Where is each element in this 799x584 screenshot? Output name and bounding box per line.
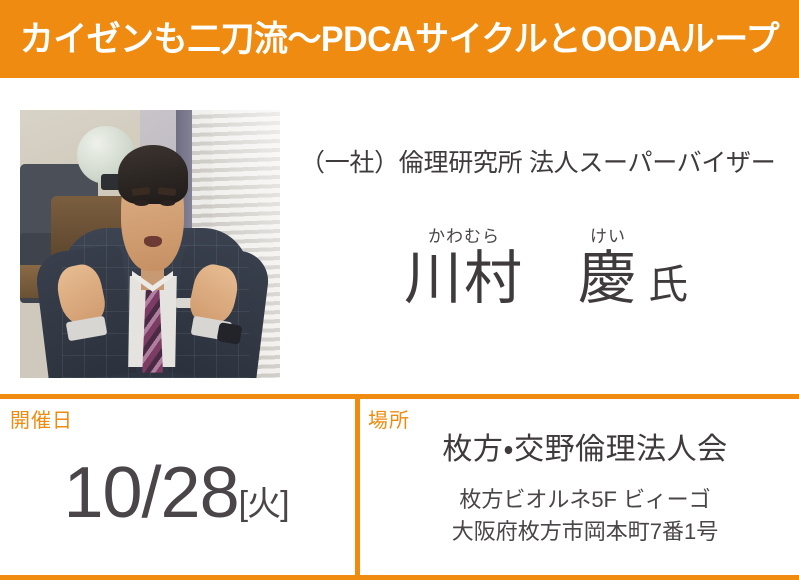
- venue-address-line-2: 大阪府枚方市岡本町7番1号: [380, 516, 790, 548]
- venue-name: 枚方・交野倫理法人会: [380, 424, 790, 468]
- divider-bottom: [0, 575, 799, 580]
- date-label: 開催日: [10, 404, 73, 433]
- speaker-surname-unit: かわむら 川村: [404, 228, 524, 310]
- title-banner: カイゼンも二刀流～PDCAサイクルとOODAループ: [0, 0, 799, 78]
- photo-eyebrow-left: [131, 187, 150, 196]
- speaker-givenname-unit: けい 慶: [578, 228, 638, 310]
- speaker-surname: 川村: [404, 249, 524, 310]
- date-number: 10/28: [63, 453, 238, 533]
- speaker-name-suffix: 氏: [648, 265, 688, 310]
- date-day-of-week: [火]: [239, 485, 289, 523]
- divider-vertical: [355, 394, 360, 580]
- photo-mouth: [144, 236, 162, 247]
- speaker-surname-ruby: かわむら: [428, 228, 500, 247]
- photo-eye-left: [134, 200, 148, 206]
- date-value: 10/28[火]: [0, 452, 352, 534]
- speaker-photo: [20, 110, 280, 378]
- divider-horizontal: [0, 394, 799, 399]
- poster-canvas: カイゼンも二刀流～PDCAサイクルとOODAループ: [0, 0, 799, 584]
- venue-address: 枚方ビオルネ5F ビィーゴ 大阪府枚方市岡本町7番1号: [380, 484, 790, 548]
- page-title: カイゼンも二刀流～PDCAサイクルとOODAループ: [20, 22, 779, 57]
- speaker-givenname-ruby: けい: [590, 228, 626, 247]
- photo-hair: [118, 145, 188, 204]
- photo-eye-right: [160, 200, 174, 206]
- speaker-givenname: 慶: [578, 249, 638, 310]
- speaker-affiliation: （一社）倫理研究所 法人スーパーバイザー: [300, 143, 792, 179]
- venue-address-line-1: 枚方ビオルネ5F ビィーゴ: [380, 484, 790, 516]
- speaker-name-row: かわむら 川村 けい 慶 氏: [300, 228, 792, 310]
- photo-eyebrow-right: [157, 187, 176, 196]
